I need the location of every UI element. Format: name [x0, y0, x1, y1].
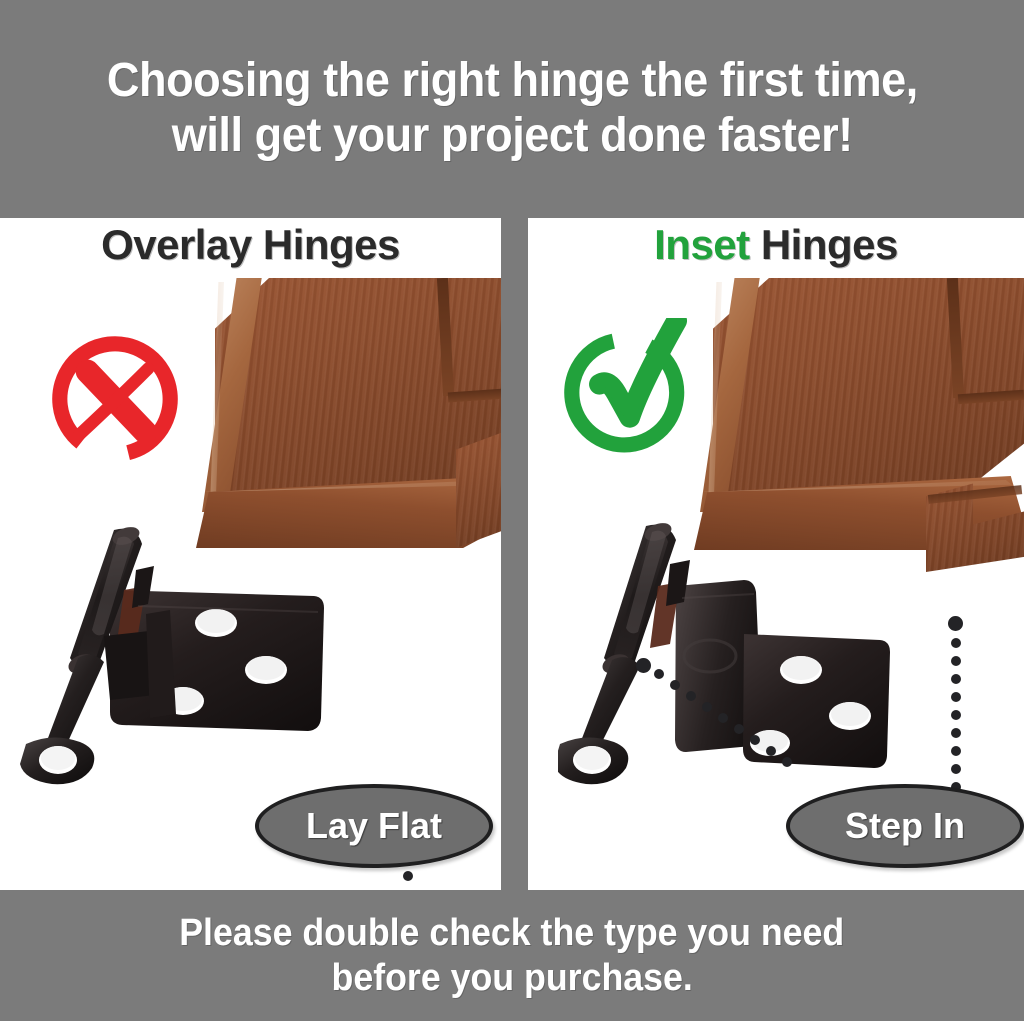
panel-title-inset-primary: Inset	[654, 221, 750, 268]
red-x-circle-icon	[46, 330, 184, 468]
panel-title-inset-secondary: Hinges	[750, 221, 898, 268]
leader-dots-inset-door	[948, 616, 970, 801]
panel-title-overlay-primary: Overlay	[101, 221, 252, 268]
footer-banner: Please double check the type you need be…	[0, 890, 1024, 1021]
infographic-root: Choosing the right hinge the first time,…	[0, 0, 1024, 1021]
panel-title-overlay: Overlay Hinges	[0, 224, 501, 266]
panel-title-overlay-secondary: Hinges	[252, 221, 400, 268]
footer-line-2: before you purchase.	[331, 956, 692, 1001]
header-line-2: will get your project done faster!	[171, 109, 852, 164]
callout-badge-step-in: Step In	[786, 784, 1024, 868]
panel-title-inset: Inset Hinges	[528, 224, 1024, 266]
callout-badge-lay-flat: Lay Flat	[255, 784, 493, 868]
header-line-1: Choosing the right hinge the first time,	[107, 54, 918, 109]
callout-badge-lay-flat-label: Lay Flat	[306, 805, 442, 847]
hinge-overlay-hardware	[18, 518, 358, 808]
header-banner: Choosing the right hinge the first time,…	[0, 0, 1024, 218]
green-check-circle-icon	[558, 318, 696, 456]
footer-line-1: Please double check the type you need	[179, 911, 844, 956]
callout-badge-step-in-label: Step In	[845, 805, 965, 847]
leader-dots-inset-hinge	[636, 658, 836, 778]
